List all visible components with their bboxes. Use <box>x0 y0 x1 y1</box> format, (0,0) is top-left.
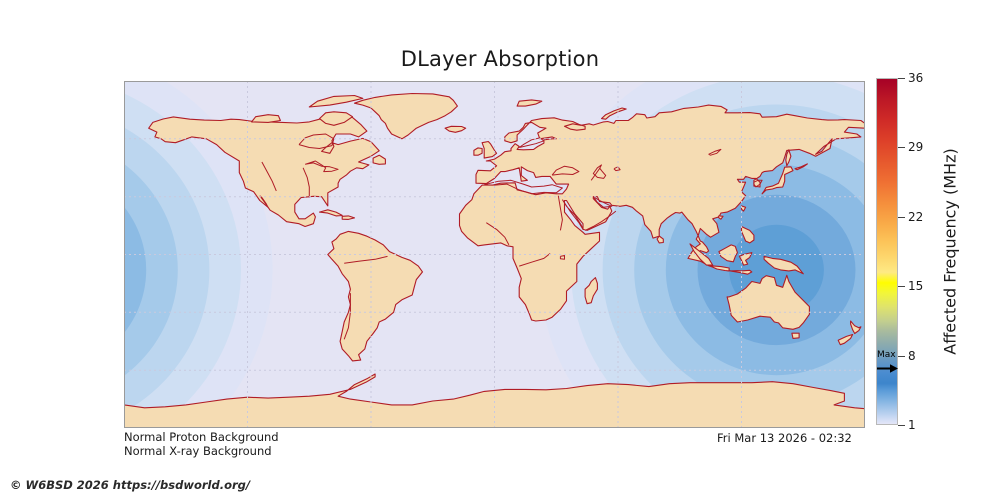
world-map-panel[interactable] <box>124 81 865 428</box>
colorbar-tick-mark <box>898 286 905 287</box>
colorbar-tick-mark <box>898 78 905 79</box>
colorbar-axis-label: Affected Frequency (MHz) <box>938 78 962 425</box>
copyright-notice: © W6BSD 2026 https://bsdworld.org/ <box>10 478 250 492</box>
colorbar-tick-mark <box>898 356 905 357</box>
colorbar-tick-label: 8 <box>908 349 916 363</box>
colorbar-tick-mark <box>898 425 905 426</box>
land-tasmania <box>792 333 799 338</box>
colorbar-tick-label: 1 <box>908 418 916 432</box>
status-notes: Normal Proton Background Normal X-ray Ba… <box>124 430 279 458</box>
colorbar-tick-label: 15 <box>908 279 923 293</box>
proton-background-status: Normal Proton Background <box>124 430 279 444</box>
xray-background-status: Normal X-ray Background <box>124 444 279 458</box>
colorbar-tick-mark <box>898 147 905 148</box>
colorbar-gradient <box>876 78 898 425</box>
colorbar-tick-label: 29 <box>908 140 923 154</box>
world-map-svg <box>124 81 865 428</box>
timestamp: Fri Mar 13 2026 - 02:32 <box>717 431 852 445</box>
colorbar-tick-label: 36 <box>908 71 923 85</box>
colorbar-axis-label-text: Affected Frequency (MHz) <box>941 148 960 354</box>
colorbar-tick-mark <box>898 217 905 218</box>
page-title: DLayer Absorption <box>0 47 1000 71</box>
colorbar-tick-label: 22 <box>908 210 923 224</box>
colorbar[interactable]: 3629221581 Max <box>876 78 898 425</box>
